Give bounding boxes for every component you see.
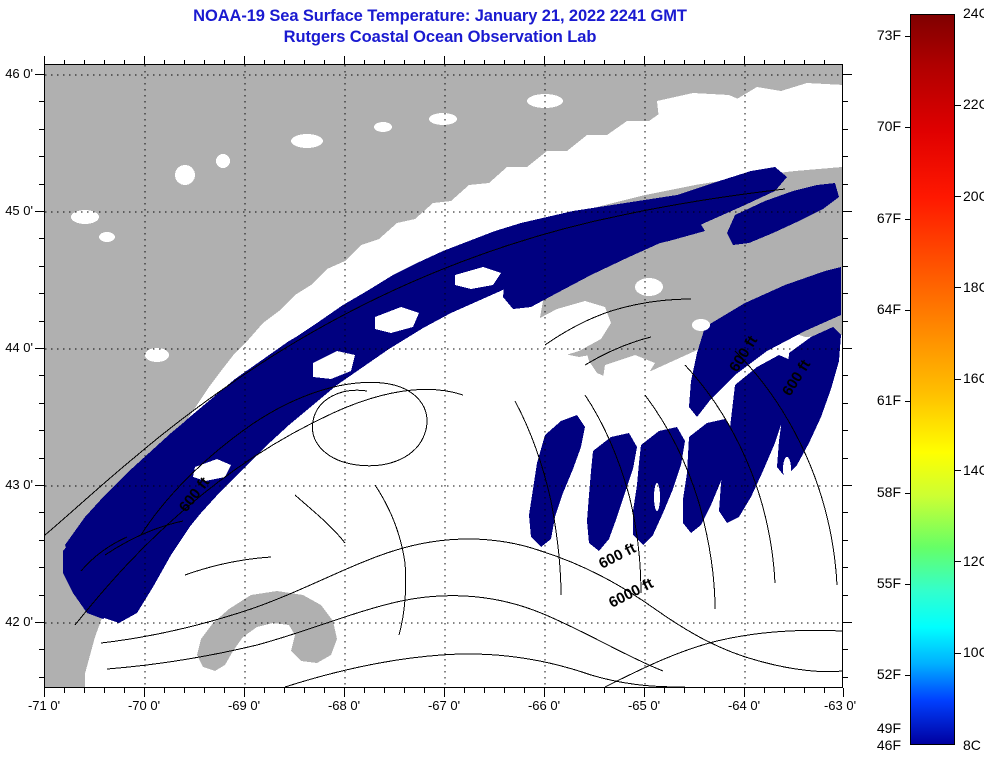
x-axis-label: -68 0' (304, 698, 384, 713)
colorbar-label-c: 14C (963, 462, 984, 478)
colorbar-label-f: 73F (857, 27, 901, 43)
y-axis-label: 43 0' (0, 477, 33, 492)
x-tick-minor (724, 688, 725, 693)
x-tick-major (644, 688, 645, 697)
x-tick-major-top (144, 56, 145, 65)
x-tick-minor-top (364, 60, 365, 65)
x-tick-minor (704, 688, 705, 693)
x-tick-minor-top (284, 60, 285, 65)
x-tick-minor (324, 688, 325, 693)
x-tick-minor-top (164, 60, 165, 65)
x-tick-minor (524, 688, 525, 693)
y-tick-minor (39, 403, 44, 404)
y-tick-minor-right (843, 129, 848, 130)
y-tick-major (35, 622, 44, 623)
colorbar-label-f: 46F (857, 737, 901, 753)
x-tick-minor (184, 688, 185, 693)
colorbar-tick-c (955, 653, 961, 654)
x-tick-minor (104, 688, 105, 693)
x-tick-minor-top (664, 60, 665, 65)
y-tick-major-right (843, 211, 852, 212)
y-tick-minor (39, 101, 44, 102)
colorbar-tick-f (905, 219, 911, 220)
y-tick-minor-right (843, 266, 848, 267)
x-tick-minor-top (584, 60, 585, 65)
colorbar-label-f: 67F (857, 210, 901, 226)
x-tick-minor-top (104, 60, 105, 65)
y-tick-minor (39, 595, 44, 596)
y-tick-major (35, 485, 44, 486)
x-tick-minor (164, 688, 165, 693)
x-tick-minor-top (404, 60, 405, 65)
colorbar-tick-c (955, 287, 961, 288)
x-tick-minor (264, 688, 265, 693)
x-tick-major-top (344, 56, 345, 65)
x-tick-minor (404, 688, 405, 693)
y-tick-minor (39, 129, 44, 130)
colorbar-label-c: 12C (963, 553, 984, 569)
y-tick-minor (39, 156, 44, 157)
x-tick-major (144, 688, 145, 697)
x-tick-minor (504, 688, 505, 693)
x-axis-label: -69 0' (204, 698, 284, 713)
y-axis-label: 44 0' (0, 340, 33, 355)
title-line-1: NOAA-19 Sea Surface Temperature: January… (0, 6, 880, 27)
y-tick-minor (39, 266, 44, 267)
x-tick-major (44, 688, 45, 697)
y-tick-major (35, 211, 44, 212)
x-tick-minor (484, 688, 485, 693)
colorbar-gradient (911, 15, 954, 744)
y-tick-minor-right (843, 512, 848, 513)
x-tick-minor-top (604, 60, 605, 65)
y-tick-minor-right (843, 595, 848, 596)
x-tick-minor-top (504, 60, 505, 65)
map-plot-area[interactable]: 600 ft 600 ft 600 ft 600 ft 6000 ft (44, 64, 843, 688)
x-tick-minor-top (184, 60, 185, 65)
y-tick-minor-right (843, 677, 848, 678)
y-tick-minor-right (843, 430, 848, 431)
x-tick-major (444, 688, 445, 697)
x-tick-minor-top (384, 60, 385, 65)
x-tick-minor (584, 688, 585, 693)
y-tick-major (35, 74, 44, 75)
y-tick-major-right (843, 485, 852, 486)
y-tick-minor-right (843, 540, 848, 541)
x-tick-minor-top (204, 60, 205, 65)
colorbar-tick-f (905, 584, 911, 585)
x-tick-minor-top (484, 60, 485, 65)
colorbar-tick-f (905, 675, 911, 676)
x-tick-minor (64, 688, 65, 693)
x-tick-minor (364, 688, 365, 693)
x-tick-major (544, 688, 545, 697)
x-tick-minor (84, 688, 85, 693)
y-tick-minor (39, 677, 44, 678)
x-tick-minor (204, 688, 205, 693)
x-tick-minor-top (64, 60, 65, 65)
x-axis-label: -65 0' (604, 698, 684, 713)
y-tick-minor-right (843, 101, 848, 102)
map-canvas: 600 ft 600 ft 600 ft 600 ft 6000 ft (45, 65, 842, 687)
x-tick-minor-top (124, 60, 125, 65)
y-tick-minor (39, 512, 44, 513)
x-tick-minor-top (724, 60, 725, 65)
x-tick-minor (304, 688, 305, 693)
colorbar-label-f: 49F (857, 720, 901, 736)
x-tick-major-top (44, 56, 45, 65)
y-tick-minor (39, 567, 44, 568)
colorbar-tick-c (955, 470, 961, 471)
y-tick-minor (39, 430, 44, 431)
x-tick-major-top (544, 56, 545, 65)
colorbar-label-c: 24C (963, 5, 984, 21)
colorbar-label-c: 20C (963, 188, 984, 204)
x-tick-minor (764, 688, 765, 693)
temperature-colorbar[interactable] (910, 14, 955, 745)
colorbar-label-f: 64F (857, 301, 901, 317)
x-tick-minor-top (324, 60, 325, 65)
y-tick-major-right (843, 622, 852, 623)
x-tick-major-top (244, 56, 245, 65)
y-tick-minor-right (843, 156, 848, 157)
x-tick-major (843, 688, 844, 697)
x-tick-major-top (444, 56, 445, 65)
colorbar-label-c: 22C (963, 96, 984, 112)
x-tick-minor (384, 688, 385, 693)
colorbar-tick-f (905, 310, 911, 311)
y-tick-major-right (843, 74, 852, 75)
colorbar-tick-c (955, 379, 961, 380)
x-tick-minor-top (84, 60, 85, 65)
colorbar-label-c: 16C (963, 370, 984, 386)
x-tick-minor-top (784, 60, 785, 65)
y-tick-minor (39, 238, 44, 239)
colorbar-label-c: 8C (963, 737, 981, 753)
x-tick-minor (664, 688, 665, 693)
y-tick-minor-right (843, 321, 848, 322)
x-tick-minor-top (424, 60, 425, 65)
x-tick-minor-top (464, 60, 465, 65)
x-axis-label: -66 0' (504, 698, 584, 713)
y-tick-major-right (843, 348, 852, 349)
colorbar-label-c: 18C (963, 279, 984, 295)
figure-title: NOAA-19 Sea Surface Temperature: January… (0, 6, 880, 48)
colorbar-tick-c (955, 105, 961, 106)
x-tick-minor-top (564, 60, 565, 65)
y-axis-label: 42 0' (0, 614, 33, 629)
x-tick-minor-top (624, 60, 625, 65)
colorbar-label-f: 70F (857, 118, 901, 134)
x-tick-minor (824, 688, 825, 693)
y-tick-minor (39, 184, 44, 185)
x-tick-minor-top (524, 60, 525, 65)
title-line-2: Rutgers Coastal Ocean Observation Lab (0, 27, 880, 48)
x-tick-minor (784, 688, 785, 693)
x-tick-minor (424, 688, 425, 693)
x-tick-major-top (744, 56, 745, 65)
x-tick-minor-top (764, 60, 765, 65)
x-tick-minor-top (264, 60, 265, 65)
y-tick-minor (39, 649, 44, 650)
x-axis-label: -67 0' (404, 698, 484, 713)
x-tick-minor (804, 688, 805, 693)
x-tick-major-top (644, 56, 645, 65)
colorbar-label-c: 10C (963, 644, 984, 660)
x-axis-label: -70 0' (104, 698, 184, 713)
colorbar-label-f: 58F (857, 484, 901, 500)
x-axis-label: -64 0' (704, 698, 784, 713)
y-tick-minor (39, 321, 44, 322)
y-tick-minor-right (843, 403, 848, 404)
y-tick-minor (39, 375, 44, 376)
colorbar-tick-c (955, 561, 961, 562)
x-tick-minor (464, 688, 465, 693)
x-tick-major (744, 688, 745, 697)
y-tick-minor-right (843, 238, 848, 239)
y-tick-minor-right (843, 567, 848, 568)
colorbar-tick-f (905, 401, 911, 402)
x-tick-minor-top (224, 60, 225, 65)
x-tick-minor (684, 688, 685, 693)
colorbar-label-f: 52F (857, 666, 901, 682)
x-tick-minor-top (684, 60, 685, 65)
colorbar-label-f: 55F (857, 575, 901, 591)
x-tick-minor-top (704, 60, 705, 65)
x-tick-minor (624, 688, 625, 693)
x-tick-minor (284, 688, 285, 693)
colorbar-tick-f (905, 36, 911, 37)
x-tick-minor (604, 688, 605, 693)
sst-map-figure: NOAA-19 Sea Surface Temperature: January… (0, 0, 984, 761)
x-tick-major (244, 688, 245, 697)
y-tick-minor (39, 293, 44, 294)
y-tick-minor-right (843, 375, 848, 376)
y-axis-label: 45 0' (0, 203, 33, 218)
colorbar-tick-f (905, 127, 911, 128)
x-axis-label: -71 0' (4, 698, 84, 713)
x-tick-major (344, 688, 345, 697)
x-tick-minor (224, 688, 225, 693)
x-axis-label: -63 0' (800, 698, 880, 713)
y-tick-major (35, 348, 44, 349)
x-tick-minor (564, 688, 565, 693)
y-tick-minor-right (843, 293, 848, 294)
y-tick-minor (39, 458, 44, 459)
y-tick-minor (39, 540, 44, 541)
y-tick-minor-right (843, 649, 848, 650)
colorbar-label-f: 61F (857, 392, 901, 408)
x-tick-minor-top (304, 60, 305, 65)
colorbar-tick-c (955, 196, 961, 197)
y-tick-minor-right (843, 184, 848, 185)
x-tick-minor (124, 688, 125, 693)
x-tick-minor-top (804, 60, 805, 65)
y-axis-label: 46 0' (0, 66, 33, 81)
y-tick-minor-right (843, 458, 848, 459)
colorbar-tick-f (905, 493, 911, 494)
x-tick-minor-top (824, 60, 825, 65)
